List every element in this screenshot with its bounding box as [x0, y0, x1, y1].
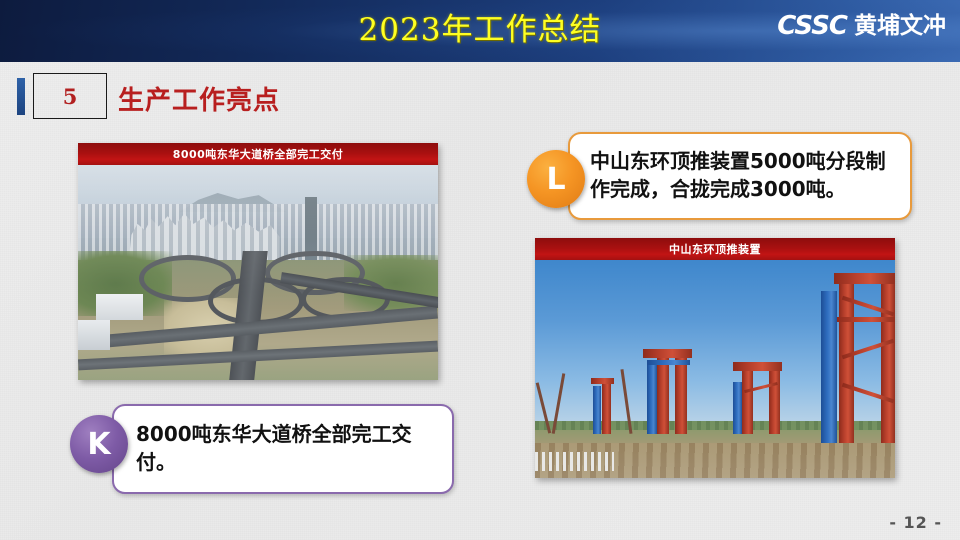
section-number: 5: [63, 84, 78, 109]
section-title: 生产工作亮点: [118, 80, 280, 117]
brand-latin-text: CSSC: [777, 13, 847, 39]
photo2-tower2-blue: [647, 360, 658, 434]
page-number: - 12 -: [889, 513, 942, 532]
photo2-tower2-cap: [643, 349, 692, 358]
callout-k-box: 8000吨东华大道桥全部完工交付。: [112, 404, 454, 494]
cssc-logo: CSSC 黄埔文冲: [777, 13, 946, 39]
photo2-tower4-beam: [837, 317, 895, 322]
slide-header: 2023年工作总结 CSSC 黄埔文冲: [0, 0, 960, 62]
photo2-fence: [535, 452, 614, 472]
photo-caption-pushing-device: 中山东环顶推装置: [535, 238, 895, 260]
photo2-tower3-blue: [733, 382, 742, 434]
photo2-tower3-red-left: [742, 369, 753, 434]
callout-k-badge: K: [70, 415, 128, 473]
photo2-tower4-red-left: [839, 282, 853, 461]
callout-l-box: 中山东环顶推装置5000吨分段制作完成，合拢完成3000吨。: [568, 132, 912, 220]
photo2-tower1-blue: [593, 386, 601, 434]
photo2-tower1-cap: [591, 378, 614, 385]
section-accent-bar: [17, 78, 25, 115]
photo-caption-interchange: 8000吨东华大道桥全部完工交付: [78, 143, 438, 165]
photo2-tower4-blue: [821, 291, 837, 461]
section-number-box: 5: [33, 73, 107, 119]
callout-l-badge: L: [527, 150, 585, 208]
photo2-tower3-cap: [733, 362, 782, 371]
photo2-tower2-red-left: [657, 356, 669, 434]
photo2-tower1-red: [602, 382, 611, 434]
callout-l-text: 中山东环顶推装置5000吨分段制作完成，合拢完成3000吨。: [590, 148, 900, 203]
photo-card-interchange: 8000吨东华大道桥全部完工交付: [78, 143, 438, 380]
photo2-tower4-cap: [834, 273, 895, 284]
photo2-tower3-red-right: [769, 369, 780, 434]
slide-canvas: 2023年工作总结 CSSC 黄埔文冲 5 生产工作亮点 8000吨东华大道桥全…: [0, 0, 960, 540]
photo-image-pushing-device: [535, 260, 895, 478]
callout-k-text: 8000吨东华大道桥全部完工交付。: [136, 421, 442, 476]
photo2-tower2-red-right: [675, 356, 687, 434]
photo2-tower2-crossbeam: [647, 360, 690, 364]
photo-image-interchange: [78, 165, 438, 380]
brand-chinese-text: 黄埔文冲: [854, 15, 946, 38]
photo-card-pushing-device: 中山东环顶推装置: [535, 238, 895, 478]
photo1-atmospheric-haze: [78, 165, 438, 380]
